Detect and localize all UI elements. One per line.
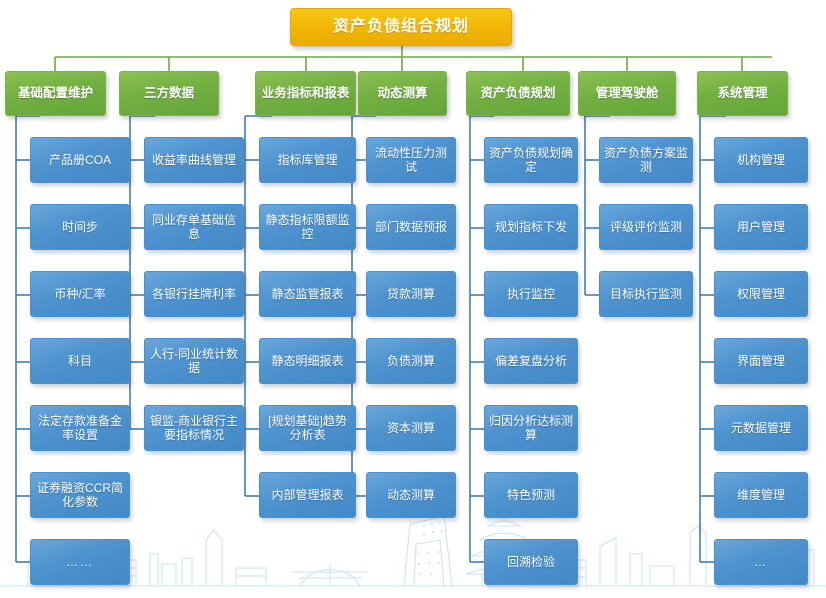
- leaf-4-4[interactable]: 归因分析达标测算: [484, 405, 578, 451]
- leaf-6-6[interactable]: …: [714, 539, 808, 585]
- green-connectors: [55, 46, 772, 71]
- leaf-6-3[interactable]: 界面管理: [714, 338, 808, 384]
- leaf-3-3[interactable]: 负债测算: [366, 338, 456, 384]
- leaf-4-0[interactable]: 资产负债规划确定: [484, 137, 578, 183]
- leaf-6-0[interactable]: 机构管理: [714, 137, 808, 183]
- leaf-0-3[interactable]: 科目: [30, 338, 130, 384]
- leaf-1-0[interactable]: 收益率曲线管理: [144, 137, 244, 183]
- leaf-0-6[interactable]: ……: [30, 539, 130, 585]
- leaf-0-0[interactable]: 产品册COA: [30, 137, 130, 183]
- leaf-2-1[interactable]: 静态指标限额监控: [259, 204, 356, 250]
- leaf-3-0[interactable]: 流动性压力测试: [366, 137, 456, 183]
- leaf-6-5[interactable]: 维度管理: [714, 472, 808, 518]
- category-header-4[interactable]: 资产负债规划: [466, 71, 570, 116]
- leaf-3-4[interactable]: 资本测算: [366, 405, 456, 451]
- leaf-4-5[interactable]: 特色预测: [484, 472, 578, 518]
- category-header-5[interactable]: 管理驾驶舱: [578, 71, 676, 116]
- category-header-1[interactable]: 三方数据: [119, 71, 219, 116]
- leaf-6-2[interactable]: 权限管理: [714, 271, 808, 317]
- leaf-2-5[interactable]: 内部管理报表: [259, 472, 356, 518]
- leaf-2-2[interactable]: 静态监管报表: [259, 271, 356, 317]
- leaf-2-4[interactable]: [规划基础]趋势分析表: [259, 405, 356, 451]
- category-header-0[interactable]: 基础配置维护: [5, 71, 106, 116]
- leaf-0-2[interactable]: 币种/汇率: [30, 271, 130, 317]
- leaf-1-2[interactable]: 各银行挂牌利率: [144, 271, 244, 317]
- leaf-2-3[interactable]: 静态明细报表: [259, 338, 356, 384]
- diagram-canvas: 资产负债组合规划 基础配置维护 三方数据 业务指标和报表 动态测算 资产负债规划…: [0, 0, 826, 598]
- leaf-0-4[interactable]: 法定存款准备金率设置: [30, 405, 130, 451]
- leaf-3-1[interactable]: 部门数据预报: [366, 204, 456, 250]
- category-header-2[interactable]: 业务指标和报表: [255, 71, 356, 116]
- leaf-1-1[interactable]: 同业存单基础信息: [144, 204, 244, 250]
- leaf-0-5[interactable]: 证券融资CCR简化参数: [30, 472, 130, 518]
- leaf-3-5[interactable]: 动态测算: [366, 472, 456, 518]
- leaf-6-1[interactable]: 用户管理: [714, 204, 808, 250]
- leaf-1-4[interactable]: 银监-商业银行主要指标情况: [144, 405, 244, 451]
- leaf-2-0[interactable]: 指标库管理: [259, 137, 356, 183]
- leaf-0-1[interactable]: 时间步: [30, 204, 130, 250]
- leaf-6-4[interactable]: 元数据管理: [714, 405, 808, 451]
- leaf-5-1[interactable]: 评级评价监测: [599, 204, 693, 250]
- leaf-4-3[interactable]: 偏差复盘分析: [484, 338, 578, 384]
- leaf-5-2[interactable]: 目标执行监测: [599, 271, 693, 317]
- leaf-4-1[interactable]: 规划指标下发: [484, 204, 578, 250]
- leaf-5-0[interactable]: 资产负债方案监测: [599, 137, 693, 183]
- leaf-4-6[interactable]: 回溯检验: [484, 539, 578, 585]
- category-header-6[interactable]: 系统管理: [697, 71, 788, 116]
- leaf-3-2[interactable]: 贷款测算: [366, 271, 456, 317]
- root-title-node[interactable]: 资产负债组合规划: [290, 8, 512, 46]
- category-header-3[interactable]: 动态测算: [358, 71, 447, 116]
- leaf-4-2[interactable]: 执行监控: [484, 271, 578, 317]
- leaf-1-3[interactable]: 人行-同业统计数据: [144, 338, 244, 384]
